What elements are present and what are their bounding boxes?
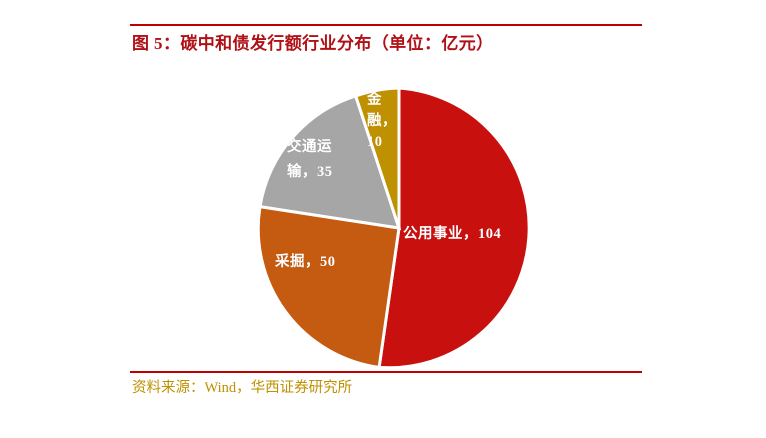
source-rule-bottom xyxy=(130,371,642,373)
page-title: 图 5：碳中和债发行额行业分布（单位：亿元） xyxy=(132,29,652,59)
title-rule-top xyxy=(130,24,642,26)
figure-container: 图 5：碳中和债发行额行业分布（单位：亿元） 公用事业，104 采掘，50 交通… xyxy=(0,0,766,438)
pie-chart-svg xyxy=(130,62,642,367)
pie-slice-utilities[interactable] xyxy=(379,88,529,367)
pie-chart-plot-area: 公用事业，104 采掘，50 交通运 输，35 金 融， 10 xyxy=(130,62,642,367)
pie-slice-mining[interactable] xyxy=(258,207,399,367)
source-note: 资料来源：Wind，华西证券研究所 xyxy=(132,376,652,400)
